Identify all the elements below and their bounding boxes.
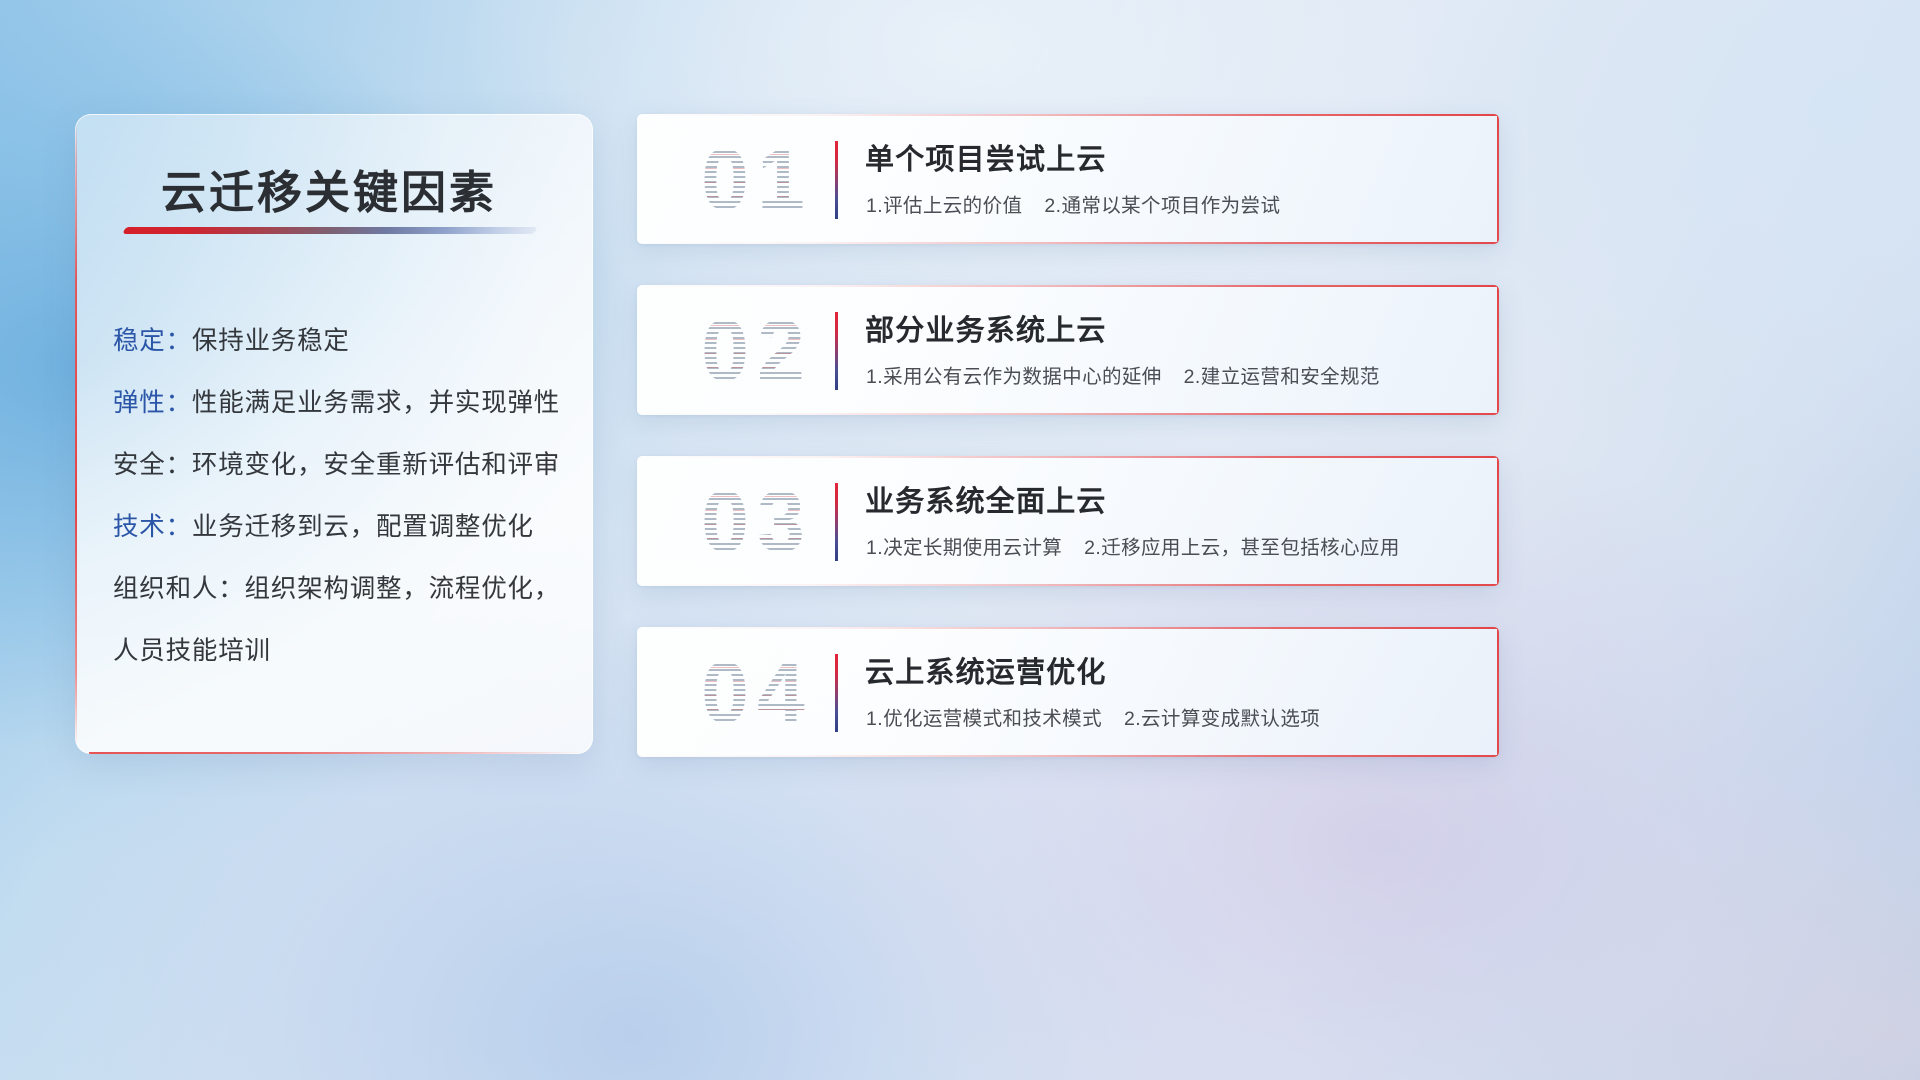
- card-edge-bottom: [637, 413, 1499, 415]
- factor-row: 稳定：保持业务稳定: [113, 310, 571, 372]
- card-edge-top: [637, 627, 1499, 629]
- step-number: 03: [659, 468, 855, 576]
- step-divider-bar: [835, 312, 838, 390]
- step-description: 1.决定长期使用云计算2.迁移应用上云，甚至包括核心应用: [866, 531, 1400, 560]
- card-edge-bottom: [637, 242, 1499, 244]
- step-description-part-2: 2.建立运营和安全规范: [1184, 366, 1380, 388]
- factor-text: 保持业务稳定: [192, 327, 350, 355]
- card-edge-bottom: [637, 755, 1499, 757]
- step-title: 部分业务系统上云: [865, 307, 1107, 349]
- step-description-part-1: 1.决定长期使用云计算: [866, 537, 1062, 559]
- card-edge-right: [1497, 456, 1499, 586]
- factor-text: 业务迁移到云，配置调整优化: [192, 513, 534, 541]
- factor-row: 组织和人：组织架构调整，流程优化，: [113, 558, 571, 620]
- step-title: 业务系统全面上云: [865, 478, 1107, 520]
- step-description-part-2: 2.迁移应用上云，甚至包括核心应用: [1084, 537, 1400, 559]
- step-card-02[interactable]: 02 02 部分业务系统上云 1.采用公有云作为数据中心的延伸2.建立运营和安全…: [637, 285, 1499, 415]
- step-card-01[interactable]: 01 01 单个项目尝试上云 1.评估上云的价值2.通常以某个项目作为尝试: [637, 114, 1499, 244]
- step-card-03[interactable]: 03 03 业务系统全面上云 1.决定长期使用云计算2.迁移应用上云，甚至包括核…: [637, 456, 1499, 586]
- factor-row-continued: 人员技能培训: [113, 620, 571, 682]
- factor-text: 环境变化，安全重新评估和评审: [192, 451, 560, 479]
- factor-list: 稳定：保持业务稳定 弹性：性能满足业务需求，并实现弹性 安全：环境变化，安全重新…: [113, 310, 571, 682]
- step-description-part-1: 1.优化运营模式和技术模式: [866, 708, 1102, 730]
- step-title: 单个项目尝试上云: [865, 136, 1107, 178]
- card-edge-top: [637, 285, 1499, 287]
- step-divider-bar: [835, 483, 838, 561]
- key-factors-panel: 云迁移关键因素 稳定：保持业务稳定 弹性：性能满足业务需求，并实现弹性 安全：环…: [75, 114, 593, 754]
- card-edge-top: [637, 114, 1499, 116]
- factor-label: 组织和人：: [113, 575, 245, 603]
- factor-text: 人员技能培训: [113, 637, 271, 665]
- step-description-part-2: 2.云计算变成默认选项: [1124, 708, 1320, 730]
- factor-label: 安全：: [113, 451, 192, 479]
- step-divider-bar: [835, 654, 838, 732]
- step-description: 1.优化运营模式和技术模式2.云计算变成默认选项: [866, 702, 1320, 731]
- card-edge-bottom: [637, 584, 1499, 586]
- card-edge-top: [637, 456, 1499, 458]
- step-description: 1.评估上云的价值2.通常以某个项目作为尝试: [866, 189, 1280, 218]
- title-underline-rule: [122, 227, 537, 234]
- step-description-part-1: 1.采用公有云作为数据中心的延伸: [866, 366, 1162, 388]
- panel-title: 云迁移关键因素: [161, 156, 497, 221]
- step-number: 02: [659, 297, 855, 405]
- step-title: 云上系统运营优化: [865, 649, 1107, 691]
- step-description-part-2: 2.通常以某个项目作为尝试: [1044, 195, 1280, 217]
- factor-label: 稳定：: [113, 327, 192, 355]
- factor-label: 弹性：: [113, 389, 192, 417]
- factor-row: 技术：业务迁移到云，配置调整优化: [113, 496, 571, 558]
- card-edge-right: [1497, 285, 1499, 415]
- step-divider-bar: [835, 141, 838, 219]
- step-description-part-1: 1.评估上云的价值: [866, 195, 1022, 217]
- factor-text: 组织架构调整，流程优化，: [245, 575, 561, 603]
- card-edge-right: [1497, 627, 1499, 757]
- step-number: 01: [659, 126, 855, 234]
- factor-label: 技术：: [113, 513, 192, 541]
- factor-text: 性能满足业务需求，并实现弹性: [192, 389, 560, 417]
- factor-row: 安全：环境变化，安全重新评估和评审: [113, 434, 571, 496]
- factor-row: 弹性：性能满足业务需求，并实现弹性: [113, 372, 571, 434]
- step-number: 04: [659, 639, 855, 747]
- slide-canvas: 云迁移关键因素 稳定：保持业务稳定 弹性：性能满足业务需求，并实现弹性 安全：环…: [0, 0, 1920, 1080]
- step-description: 1.采用公有云作为数据中心的延伸2.建立运营和安全规范: [866, 360, 1380, 389]
- step-card-04[interactable]: 04 04 云上系统运营优化 1.优化运营模式和技术模式2.云计算变成默认选项: [637, 627, 1499, 757]
- card-edge-right: [1497, 114, 1499, 244]
